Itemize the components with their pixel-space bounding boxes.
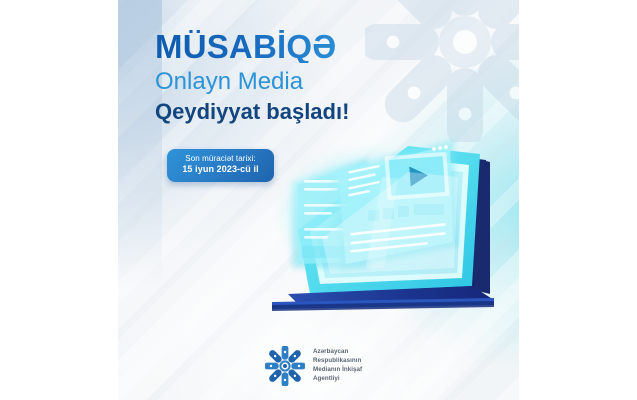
poster-frame: MÜSABİQƏ Onlayn Media Qeydiyyat başladı!… [0, 0, 637, 400]
deadline-label: Son müraciət tarixi: [185, 154, 255, 164]
agency-name-line-1: Azərbaycan [313, 348, 362, 357]
poster-artwork: MÜSABİQƏ Onlayn Media Qeydiyyat başladı!… [118, 0, 519, 400]
agency-name-line-4: Agentliyi [313, 375, 362, 384]
agency-logo-lockup: Azərbaycan Respublikasının Medianın İnki… [265, 346, 362, 386]
agency-name-line-2: Respublikasının [313, 357, 362, 366]
laptop-illustration [258, 118, 513, 318]
agency-logo-text: Azərbaycan Respublikasının Medianın İnki… [313, 348, 362, 383]
subtitle: Onlayn Media [155, 69, 455, 94]
page-title: MÜSABİQƏ [155, 30, 455, 63]
headline-block: MÜSABİQƏ Onlayn Media Qeydiyyat başladı! [155, 30, 455, 124]
agency-name-line-3: Medianın İnkişaf [313, 366, 362, 375]
rosette-emblem-icon [265, 346, 305, 386]
deadline-value: 15 iyun 2023-cü il [182, 164, 258, 176]
